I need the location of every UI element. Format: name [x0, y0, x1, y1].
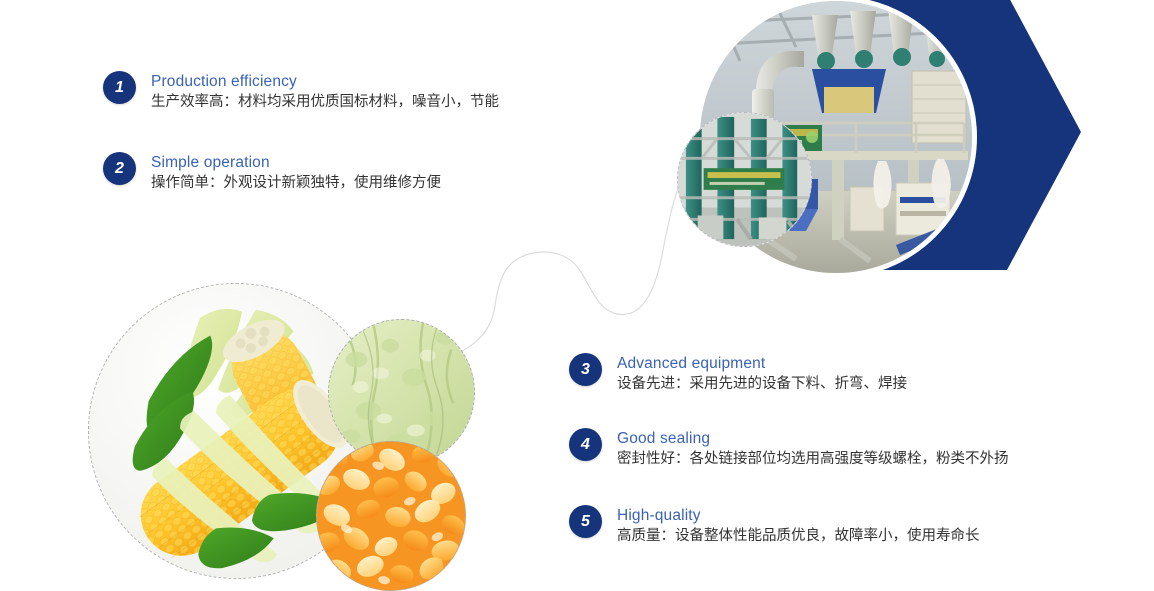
feature-text-1: Production efficiency 生产效率高：材料均采用优质国标材料，… — [151, 71, 499, 113]
feature-text-4: Good sealing 密封性好：各处链接部位均选用高强度等级螺栓，粉类不外扬 — [617, 428, 1009, 470]
feature-item-5[interactable]: 5 High-quality 高质量：设备整体性能品质优良，故障率小，使用寿命长 — [569, 505, 980, 547]
feature-title-en-5: High-quality — [617, 506, 980, 525]
feature-item-3[interactable]: 3 Advanced equipment 设备先进：采用先进的设备下料、折弯、焊… — [569, 353, 907, 395]
feature-item-1[interactable]: 1 Production efficiency 生产效率高：材料均采用优质国标材… — [103, 71, 499, 113]
feature-item-2[interactable]: 2 Simple operation 操作简单：外观设计新颖独特，使用维修方便 — [103, 152, 441, 194]
feature-title-cn-5: 高质量：设备整体性能品质优良，故障率小，使用寿命长 — [617, 526, 980, 547]
feature-item-4[interactable]: 4 Good sealing 密封性好：各处链接部位均选用高强度等级螺栓，粉类不… — [569, 428, 1009, 470]
feature-title-en-4: Good sealing — [617, 429, 1009, 448]
hexagon-photo-group — [660, 0, 1154, 284]
feature-title-en-2: Simple operation — [151, 153, 441, 172]
feature-number-badge-2: 2 — [103, 152, 136, 185]
feature-number-badge-4: 4 — [569, 428, 602, 461]
flour-milling-plant-small-photo — [677, 112, 812, 247]
feature-text-3: Advanced equipment 设备先进：采用先进的设备下料、折弯、焊接 — [617, 353, 907, 395]
feature-title-cn-3: 设备先进：采用先进的设备下料、折弯、焊接 — [617, 374, 907, 395]
feature-title-cn-1: 生产效率高：材料均采用优质国标材料，噪音小，节能 — [151, 92, 499, 113]
corn-kernels-orange-photo — [316, 441, 466, 591]
feature-title-cn-4: 密封性好：各处链接部位均选用高强度等级螺栓，粉类不外扬 — [617, 449, 1009, 470]
feature-text-2: Simple operation 操作简单：外观设计新颖独特，使用维修方便 — [151, 152, 441, 194]
feature-title-en-1: Production efficiency — [151, 72, 499, 91]
feature-title-en-3: Advanced equipment — [617, 354, 907, 373]
corn-photo-group — [88, 283, 488, 591]
feature-number-badge-1: 1 — [103, 71, 136, 104]
feature-number-badge-5: 5 — [569, 505, 602, 538]
infographic-stage: 1 Production efficiency 生产效率高：材料均采用优质国标材… — [0, 0, 1154, 591]
feature-number-badge-3: 3 — [569, 353, 602, 386]
feature-text-5: High-quality 高质量：设备整体性能品质优良，故障率小，使用寿命长 — [617, 505, 980, 547]
feature-title-cn-2: 操作简单：外观设计新颖独特，使用维修方便 — [151, 173, 441, 194]
